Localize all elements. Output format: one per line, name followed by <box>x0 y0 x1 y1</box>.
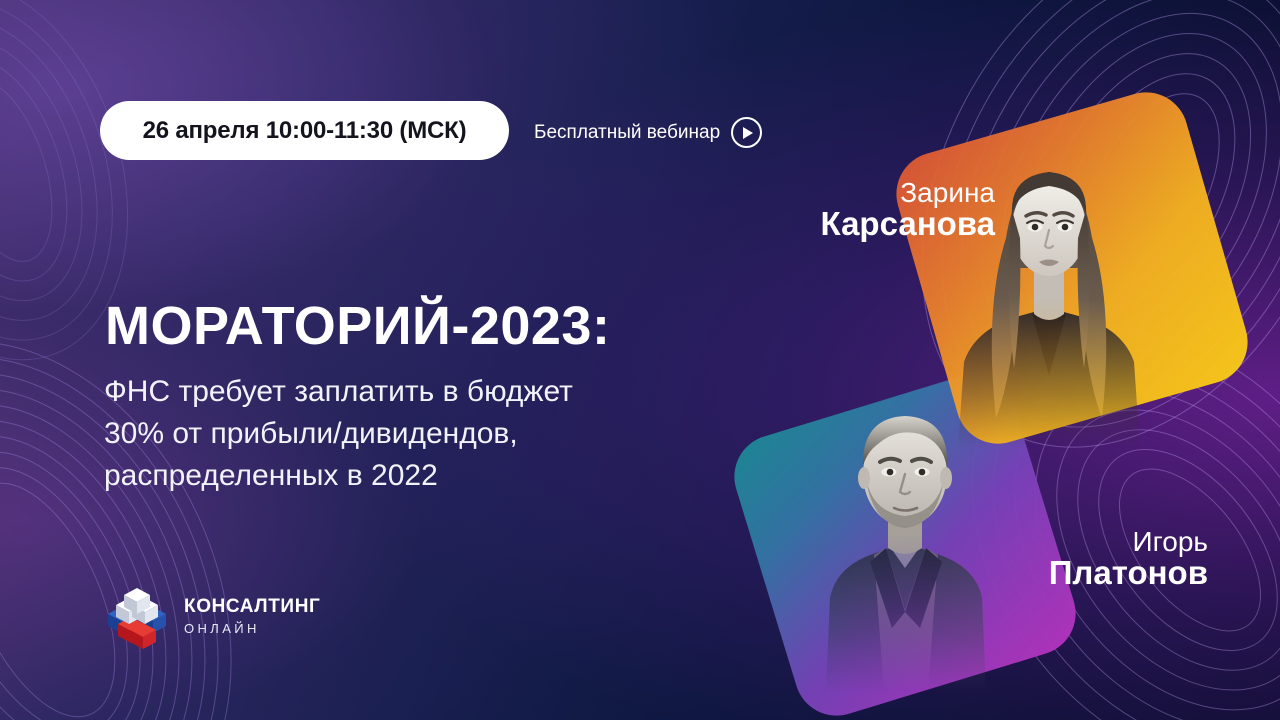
play-icon[interactable] <box>731 117 762 148</box>
speaker-name-igor: Игорь Платонов <box>1049 527 1208 590</box>
speaker-photo-zarina <box>944 118 1154 448</box>
free-webinar-text: Бесплатный вебинар <box>534 122 720 144</box>
date-time-text: 26 апреля 10:00-11:30 (МСК) <box>143 117 467 145</box>
brand-tagline: ОНЛАЙН <box>184 621 320 636</box>
date-time-badge: 26 апреля 10:00-11:30 (МСК) <box>100 101 509 160</box>
speaker-last-name: Карсанова <box>821 207 995 241</box>
free-webinar-label[interactable]: Бесплатный вебинар <box>534 117 762 148</box>
isometric-cubes-icon <box>104 583 170 649</box>
brand-logo-text: КОНСАЛТИНГ ОНЛАЙН <box>184 596 320 636</box>
brand-logo[interactable]: КОНСАЛТИНГ ОНЛАЙН <box>104 583 320 649</box>
subtitle-line-3: распределенных в 2022 <box>104 455 573 497</box>
speaker-name-zarina: Зарина Карсанова <box>821 178 995 241</box>
speaker-last-name: Платонов <box>1049 556 1208 590</box>
page-title: МОРАТОРИЙ-2023: <box>105 295 610 357</box>
subtitle-line-1: ФНС требует заплатить в бюджет <box>104 371 573 413</box>
page-subtitle: ФНС требует заплатить в бюджет 30% от пр… <box>104 371 573 497</box>
brand-name: КОНСАЛТИНГ <box>184 596 320 618</box>
webinar-banner: 26 апреля 10:00-11:30 (МСК) Бесплатный в… <box>0 0 1280 720</box>
speaker-first-name: Зарина <box>821 178 995 207</box>
subtitle-line-2: 30% от прибыли/дивидендов, <box>104 413 573 455</box>
speaker-first-name: Игорь <box>1049 527 1208 556</box>
